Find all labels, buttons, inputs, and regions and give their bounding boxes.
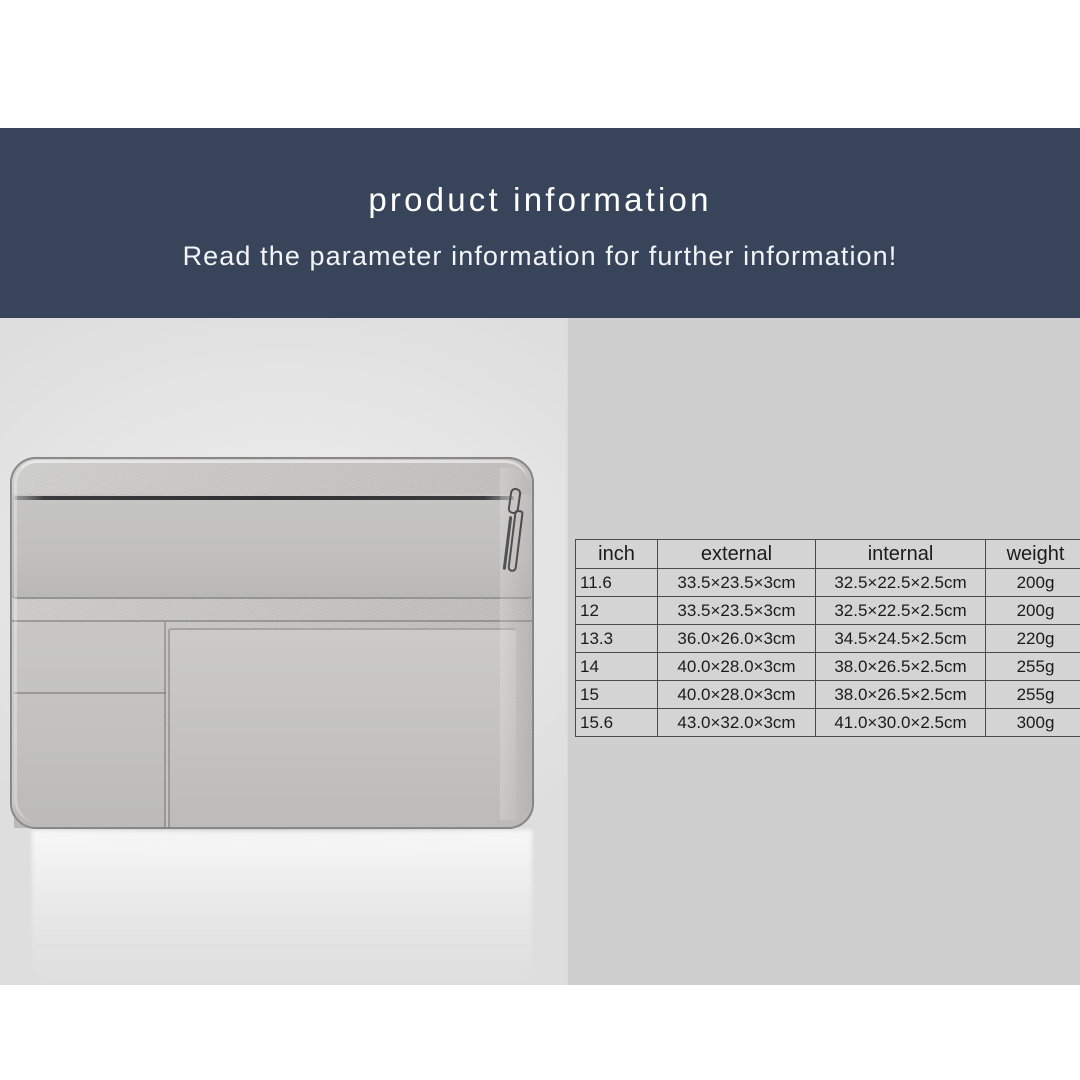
banner-subtitle: Read the parameter information for furth…: [183, 243, 898, 270]
cell-weight: 200g: [986, 569, 1080, 597]
cell-weight: 255g: [986, 653, 1080, 681]
page-title: product information: [368, 183, 711, 216]
cell-internal: 32.5×22.5×2.5cm: [816, 569, 986, 597]
cell-internal: 38.0×26.5×2.5cm: [816, 653, 986, 681]
cell-external: 33.5×23.5×3cm: [658, 569, 816, 597]
product-photo: [0, 318, 568, 985]
cell-weight: 255g: [986, 681, 1080, 709]
cell-internal: 38.0×26.5×2.5cm: [816, 681, 986, 709]
zipper-track-icon: [14, 496, 514, 500]
cell-weight: 220g: [986, 625, 1080, 653]
cell-internal: 32.5×22.5×2.5cm: [816, 597, 986, 625]
cell-weight: 200g: [986, 597, 1080, 625]
cell-inch: 15.6: [576, 709, 658, 737]
cell-internal: 41.0×30.0×2.5cm: [816, 709, 986, 737]
table-row: 15 40.0×28.0×3cm 38.0×26.5×2.5cm 255g: [576, 681, 1080, 709]
lower-left-pocket: [14, 622, 166, 828]
cell-internal: 34.5×24.5×2.5cm: [816, 625, 986, 653]
column-header-inch: inch: [576, 540, 658, 569]
cell-external: 33.5×23.5×3cm: [658, 597, 816, 625]
product-information-page: product information Read the parameter i…: [0, 0, 1080, 1080]
table-row: 11.6 33.5×23.5×3cm 32.5×22.5×2.5cm 200g: [576, 569, 1080, 597]
cell-external: 43.0×32.0×3cm: [658, 709, 816, 737]
cell-external: 40.0×28.0×3cm: [658, 681, 816, 709]
table-row: 14 40.0×28.0×3cm 38.0×26.5×2.5cm 255g: [576, 653, 1080, 681]
cell-inch: 12: [576, 597, 658, 625]
lower-left-pocket-divider: [14, 692, 166, 694]
top-white-strip: [0, 0, 1080, 128]
table-row: 13.3 36.0×26.0×3cm 34.5×24.5×2.5cm 220g: [576, 625, 1080, 653]
product-image-panel: [0, 318, 568, 985]
table-row: 15.6 43.0×32.0×3cm 41.0×30.0×2.5cm 300g: [576, 709, 1080, 737]
cell-external: 36.0×26.0×3cm: [658, 625, 816, 653]
table-header-row: inch external internal weight: [576, 540, 1080, 569]
column-header-external: external: [658, 540, 816, 569]
column-header-weight: weight: [986, 540, 1080, 569]
specification-table-container: inch external internal weight 11.6 33.5×…: [575, 539, 1080, 737]
cell-inch: 14: [576, 653, 658, 681]
top-zipper-pocket: [12, 494, 532, 599]
column-header-internal: internal: [816, 540, 986, 569]
cell-external: 40.0×28.0×3cm: [658, 653, 816, 681]
cell-inch: 15: [576, 681, 658, 709]
lower-front-pocket: [168, 628, 516, 828]
specification-table: inch external internal weight 11.6 33.5×…: [575, 539, 1080, 737]
bottom-white-strip: [0, 985, 1080, 1080]
bag-reflection: [32, 830, 532, 985]
cell-inch: 11.6: [576, 569, 658, 597]
banner: product information Read the parameter i…: [0, 128, 1080, 318]
table-row: 12 33.5×23.5×3cm 32.5×22.5×2.5cm 200g: [576, 597, 1080, 625]
cell-weight: 300g: [986, 709, 1080, 737]
cell-inch: 13.3: [576, 625, 658, 653]
